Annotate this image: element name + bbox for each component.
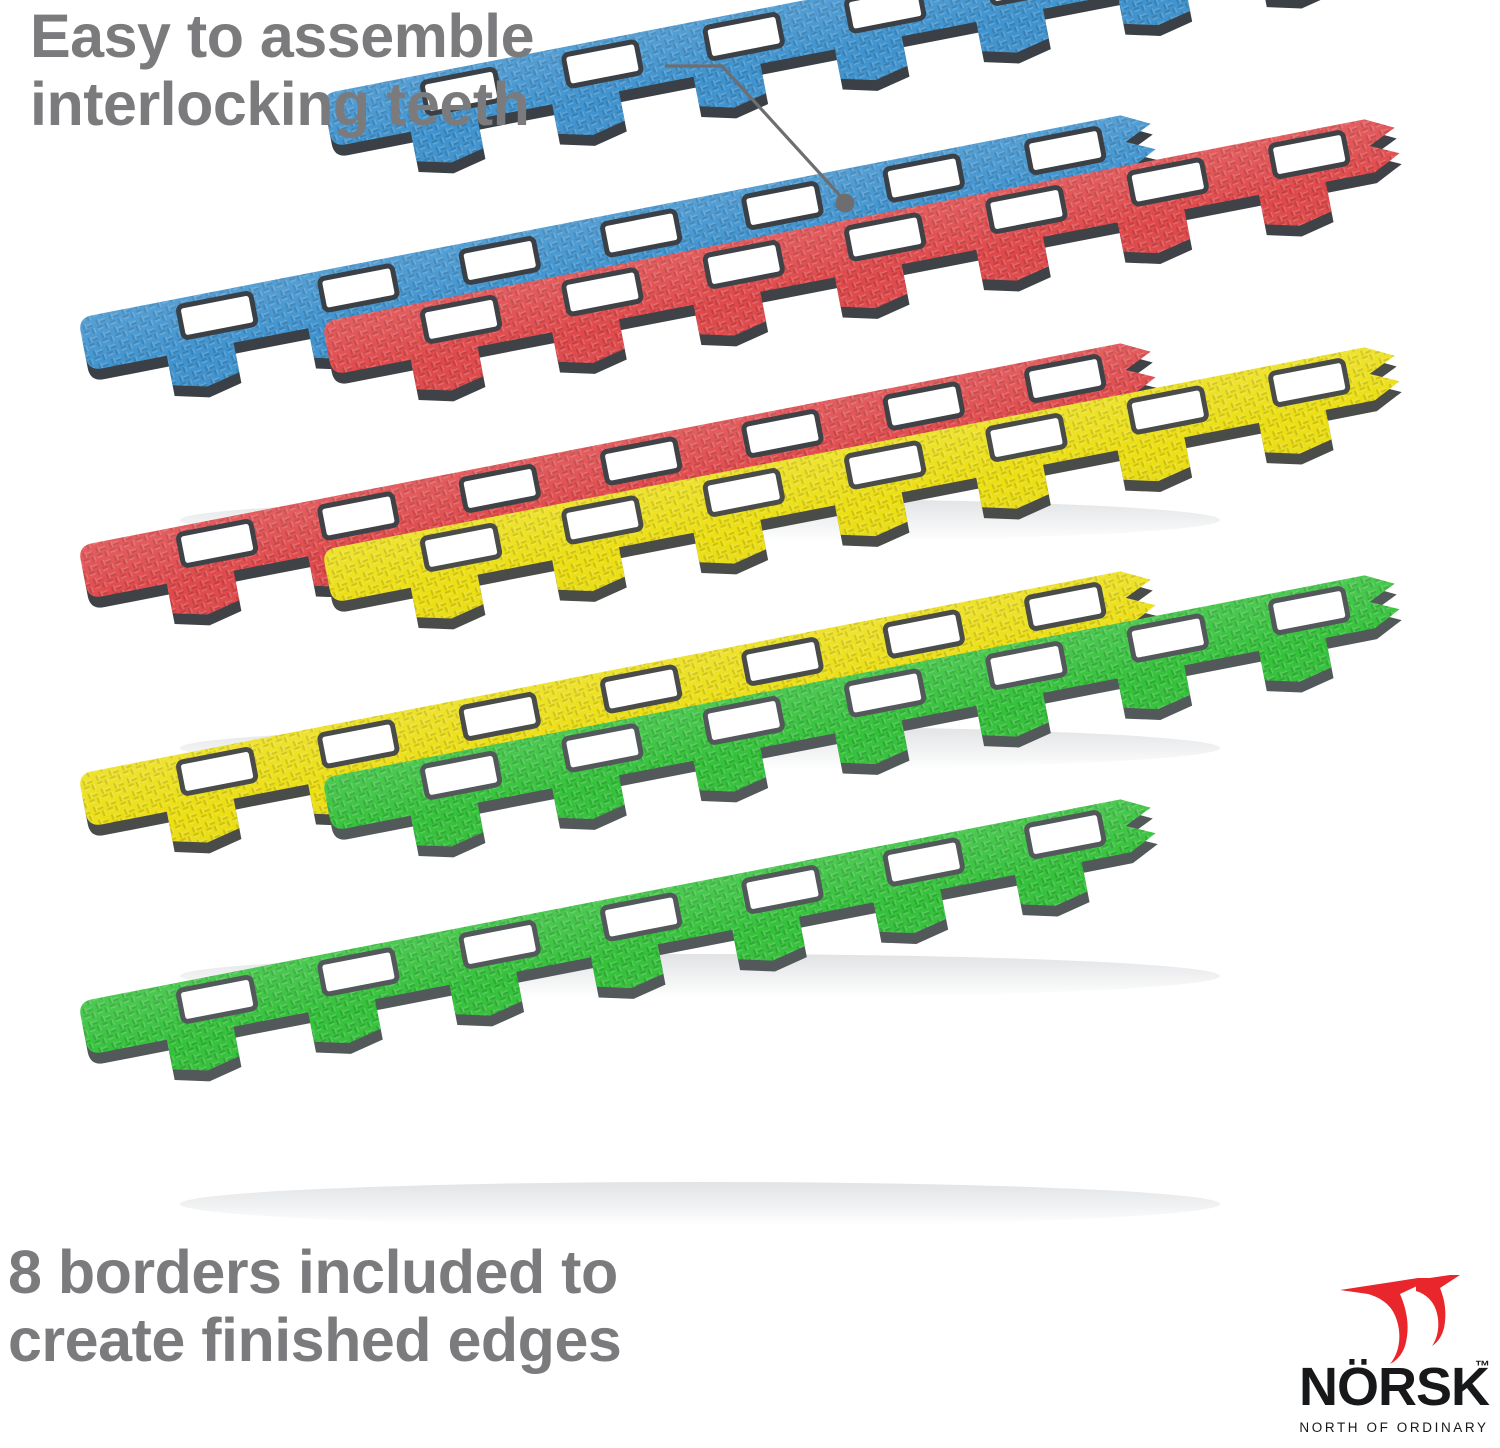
product-marketing-image: Easy to assemble interlocking teeth 8 bo… (0, 0, 1500, 1448)
foam-strips-svg (0, 0, 1500, 1260)
norsk-brand-logo: NÖRSK ™ NORTH OF ORDINARY (1296, 1272, 1492, 1444)
norsk-tagline: NORTH OF ORDINARY (1296, 1420, 1492, 1435)
norsk-swoosh-icon (1334, 1272, 1462, 1364)
foam-border-strips-illustration (0, 0, 1500, 1260)
trademark-symbol: ™ (1475, 1358, 1490, 1375)
headline-borders-included: 8 borders included to create finished ed… (8, 1238, 788, 1375)
headline-easy-to-assemble: Easy to assemble interlocking teeth (30, 2, 710, 139)
norsk-wordmark: NÖRSK (1296, 1360, 1492, 1414)
